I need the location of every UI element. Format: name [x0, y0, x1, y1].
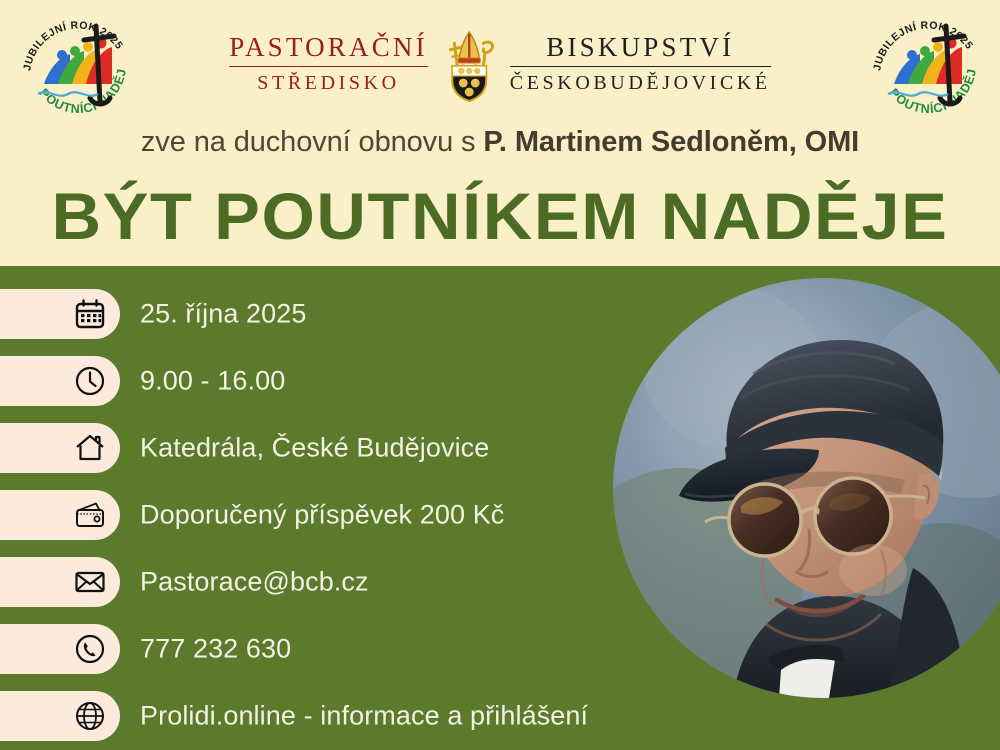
info-pill [0, 691, 120, 741]
info-text-email: Pastorace@bcb.cz [140, 567, 369, 598]
diocese-wordmark: BISKUPSTVÍ ČESKOBUDĚJOVICKÉ [510, 34, 771, 93]
info-pill [0, 423, 120, 473]
info-text-date: 25. října 2025 [140, 299, 307, 330]
envelope-icon [74, 566, 106, 598]
pastoral-centre-line1: PASTORAČNÍ [229, 34, 428, 61]
poster: JUBILEJNÍ ROK 2025 POUTNÍCI NADĚJE [0, 0, 1000, 750]
info-text-venue: Katedrála, České Budějovice [140, 433, 489, 464]
info-text-fee: Doporučený příspěvek 200 Kč [140, 500, 504, 531]
diocese-line1: BISKUPSTVÍ [510, 34, 771, 61]
info-row-date: 25. října 2025 [0, 289, 660, 339]
info-text-web: Prolidi.online - informace a přihlášení [140, 701, 588, 732]
subtitle-lead: zve na duchovní obnovu s [141, 126, 484, 158]
calendar-icon [74, 298, 106, 330]
info-row-email: Pastorace@bcb.cz [0, 557, 660, 607]
info-pill [0, 624, 120, 674]
info-row-venue: Katedrála, České Budějovice [0, 423, 660, 473]
pastoral-centre-wordmark: PASTORAČNÍ STŘEDISKO [229, 34, 428, 93]
diocese-line2: ČESKOBUDĚJOVICKÉ [510, 67, 771, 93]
subtitle-speaker: P. Martinem Sedloněm, OMI [483, 126, 859, 158]
info-list: 25. října 2025 9.00 - 16.00 [0, 289, 660, 750]
home-icon [74, 432, 106, 464]
bishop-coat-of-arms-icon [438, 24, 500, 102]
jubilee-pilgrims-logo-left: JUBILEJNÍ ROK 2025 POUTNÍCI NADĚJE [14, 6, 136, 124]
info-row-web: Prolidi.online - informace a přihlášení [0, 691, 660, 741]
jubilee-pilgrims-logo-right: JUBILEJNÍ ROK 2025 POUTNÍCI NADĚJE [864, 6, 986, 124]
info-pill [0, 490, 120, 540]
wallet-icon [74, 499, 106, 531]
info-pill [0, 356, 120, 406]
info-pill [0, 289, 120, 339]
info-row-time: 9.00 - 16.00 [0, 356, 660, 406]
subtitle: zve na duchovní obnovu s P. Martinem Sed… [0, 126, 1000, 159]
info-row-fee: Doporučený příspěvek 200 Kč [0, 490, 660, 540]
page-title: BÝT POUTNÍKEM NADĚJE [0, 178, 1000, 254]
info-text-phone: 777 232 630 [140, 634, 291, 665]
info-text-time: 9.00 - 16.00 [140, 366, 285, 397]
info-pill [0, 557, 120, 607]
info-row-phone: 777 232 630 [0, 624, 660, 674]
globe-icon [74, 700, 106, 732]
pastoral-centre-line2: STŘEDISKO [229, 67, 428, 93]
clock-icon [74, 365, 106, 397]
phone-icon [74, 633, 106, 665]
header-lockup: PASTORAČNÍ STŘEDISKO [229, 24, 771, 102]
